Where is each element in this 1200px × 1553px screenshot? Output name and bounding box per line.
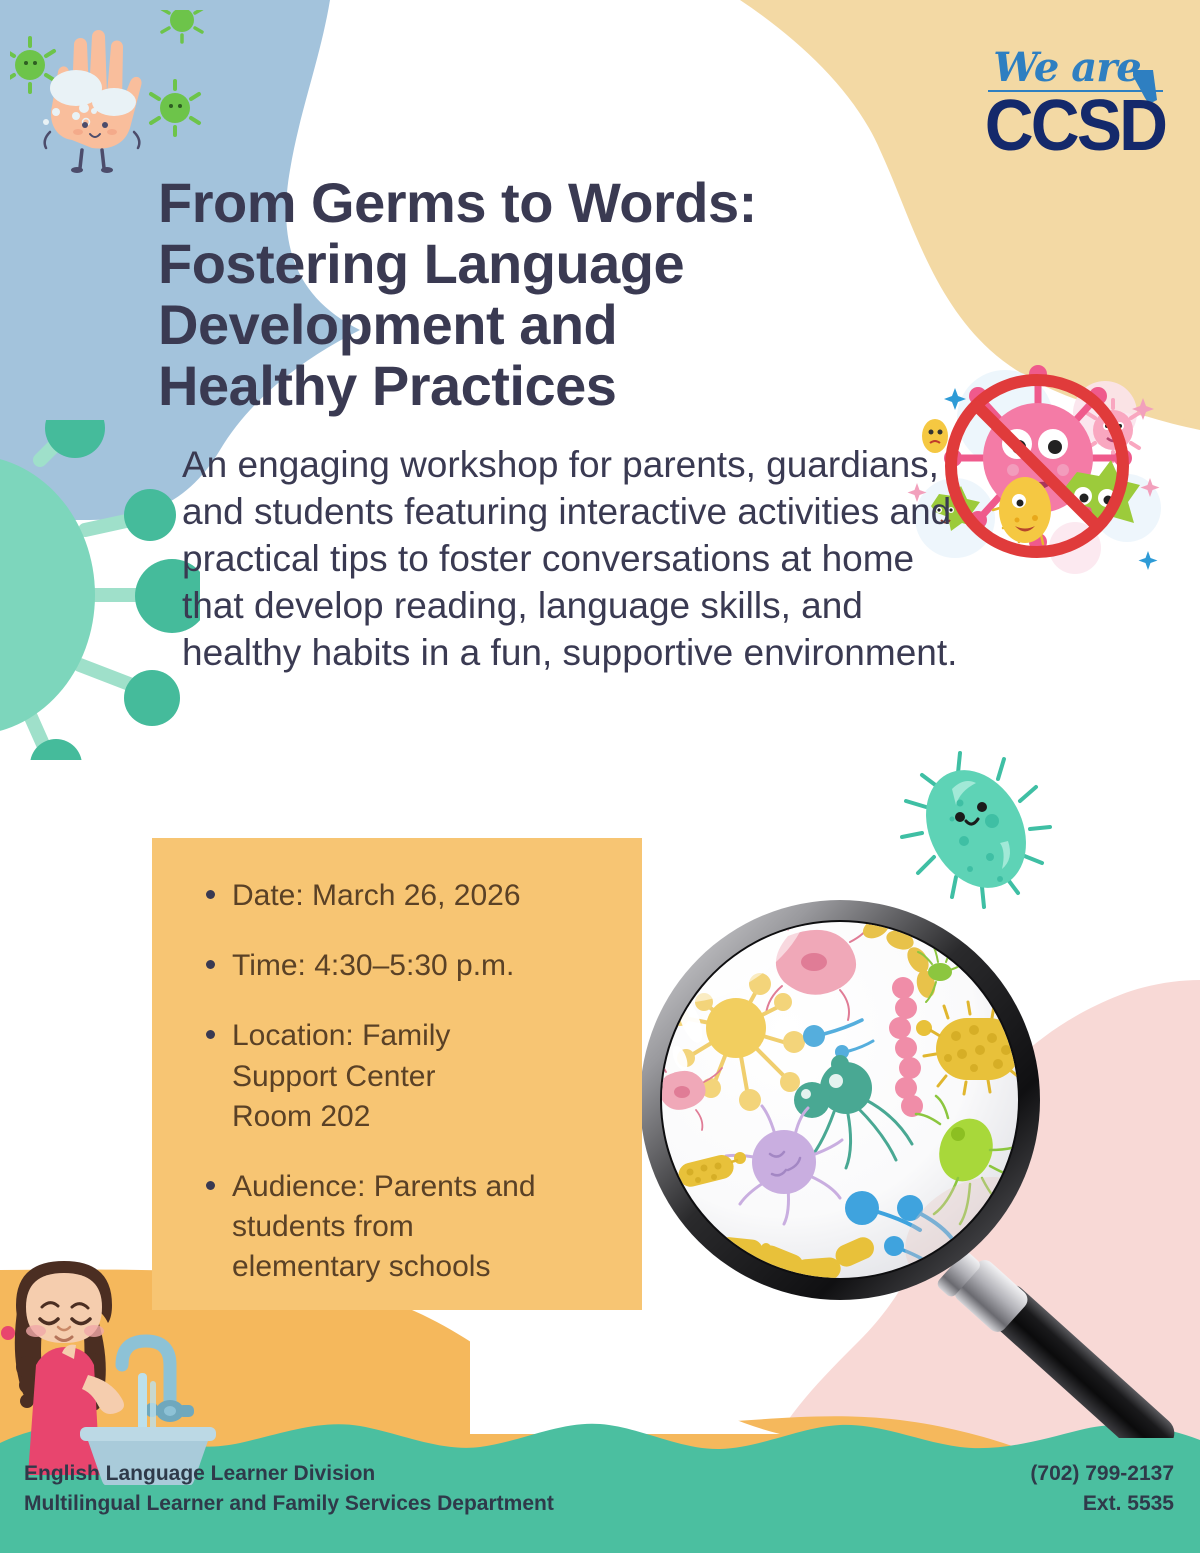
magnifier-handle	[935, 1250, 1181, 1438]
hand-mascot	[45, 30, 142, 173]
footer-division-text: English Language Learner Division Multil…	[24, 1459, 554, 1519]
description-paragraph: An engaging workshop for parents, guardi…	[182, 442, 982, 677]
event-details-box: Date: March 26, 2026 Time: 4:30–5:30 p.m…	[152, 838, 642, 1310]
list-item: Time: 4:30–5:30 p.m.	[202, 946, 622, 986]
magnifying-glass-icon	[618, 878, 1200, 1438]
list-item: Location: Family Support Center Room 202	[202, 1016, 622, 1137]
page-title: From Germs to Words: Fostering Language …	[158, 172, 958, 416]
sink-faucet	[122, 1341, 194, 1422]
germ-green-small-right	[151, 81, 199, 135]
ccsd-acronym: CCSD	[981, 92, 1169, 160]
ccsd-logo: We are CCSD	[975, 48, 1175, 188]
germ-green-top	[162, 10, 202, 42]
event-details-list: Date: March 26, 2026 Time: 4:30–5:30 p.m…	[152, 838, 642, 1288]
poster-canvas: We are CCSD From Germs to Words: Fosteri…	[0, 0, 1200, 1553]
list-item: Date: March 26, 2026	[202, 876, 622, 916]
list-item: Audience: Parents and students from elem…	[202, 1167, 622, 1288]
germ-green-small-left	[10, 38, 54, 92]
hand-washing-mascot-icon	[10, 10, 210, 190]
footer-phone-text: (702) 799-2137 Ext. 5535	[1030, 1459, 1174, 1519]
large-teal-virus-icon	[0, 420, 200, 760]
